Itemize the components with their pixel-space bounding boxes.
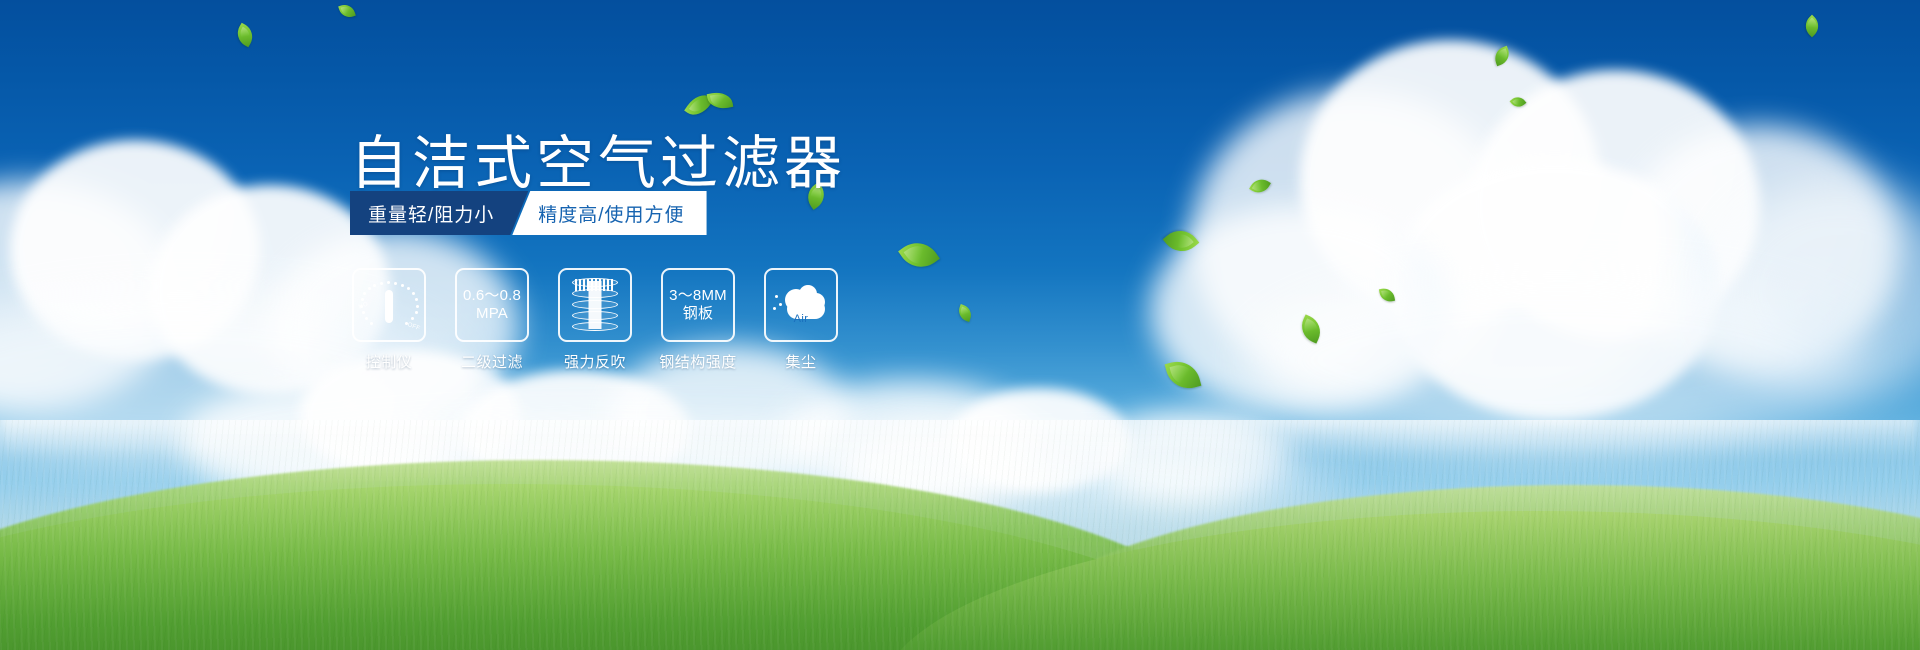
- hero-banner: 自洁式空气过滤器 重量轻/阻力小 精度高/使用方便: [0, 0, 1920, 650]
- feature-item-pressure[interactable]: 0.6～0.8 MPA 二级过滤: [455, 268, 529, 372]
- feature-item-backblow[interactable]: 强力反吹: [558, 268, 632, 372]
- air-cloud-icon: Air: [773, 283, 829, 327]
- feature-label: 控制仪: [366, 351, 413, 372]
- gauge-needle: [385, 290, 393, 323]
- title-leaf-icon: [707, 90, 734, 111]
- feature-label: 二级过滤: [461, 351, 523, 372]
- gauge-max-label: OFF: [406, 322, 421, 333]
- feature-box: 0.6～0.8 MPA: [455, 268, 529, 342]
- feature-label: 强力反吹: [564, 351, 626, 372]
- feature-list: NO OFF 控制仪 0.6～0.8 MPA 二级过滤: [352, 268, 838, 372]
- feature-item-dust[interactable]: Air 集尘: [764, 268, 838, 372]
- feature-label: 集尘: [785, 351, 816, 372]
- tab-weight-resistance[interactable]: 重量轻/阻力小: [350, 191, 528, 235]
- feature-text-line1: 3～8MM: [669, 287, 727, 305]
- banner-content: 自洁式空气过滤器 重量轻/阻力小 精度高/使用方便: [0, 0, 1920, 650]
- feature-text-line1: 0.6～0.8: [463, 287, 521, 305]
- gauge-icon: NO OFF: [360, 279, 418, 331]
- feature-box: Air: [764, 268, 838, 342]
- feature-box: NO OFF: [352, 268, 426, 342]
- tab-precision-convenience[interactable]: 精度高/使用方便: [512, 191, 706, 235]
- feature-box: [558, 268, 632, 342]
- feature-box: 3～8MM 钢板: [661, 268, 735, 342]
- filter-cartridge-icon: [570, 278, 620, 332]
- subtitle-tabs: 重量轻/阻力小 精度高/使用方便: [350, 191, 707, 235]
- feature-label: 钢结构强度: [659, 351, 737, 372]
- feature-text-line2: MPA: [476, 305, 508, 323]
- gauge-min-label: NO: [358, 301, 370, 311]
- feature-item-steel[interactable]: 3～8MM 钢板 钢结构强度: [661, 268, 735, 372]
- page-title: 自洁式空气过滤器: [350, 116, 846, 200]
- feature-text-line2: 钢板: [683, 305, 713, 323]
- air-label: Air: [794, 313, 809, 326]
- feature-item-controller[interactable]: NO OFF 控制仪: [352, 268, 426, 372]
